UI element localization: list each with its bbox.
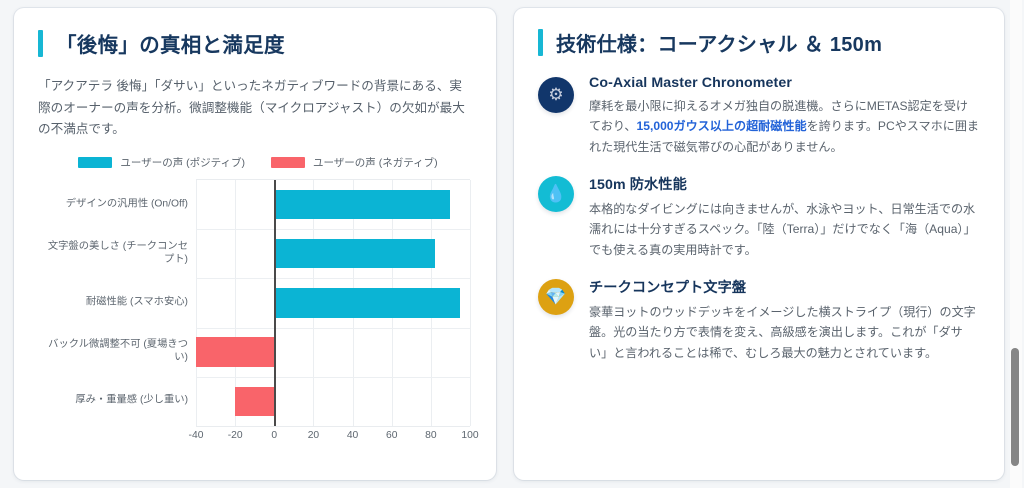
gem-icon: 💎 (538, 279, 574, 315)
spec-title: Co-Axial Master Chronometer (589, 75, 980, 91)
water-drop-icon: 💧 (538, 176, 574, 212)
chart-bar-row: デザインの汎用性 (On/Off) (196, 180, 470, 229)
satisfaction-bar-chart: ユーザーの声 (ポジティブ)ユーザーの声 (ネガティブ) デザインの汎用性 (O… (38, 155, 478, 445)
spec-title: 150m 防水性能 (589, 174, 980, 194)
spec-body: 150m 防水性能本格的なダイビングには向きませんが、水泳やヨット、日常生活での… (589, 174, 980, 260)
spec-item: 💧150m 防水性能本格的なダイビングには向きませんが、水泳やヨット、日常生活で… (538, 174, 980, 260)
spec-description: 豪華ヨットのウッドデッキをイメージした横ストライプ（現行）の文字盤。光の当たり方… (589, 302, 980, 363)
chart-x-tick-label: 60 (386, 430, 397, 441)
legend-item[interactable]: ユーザーの声 (ネガティブ) (271, 155, 438, 170)
legend-item[interactable]: ユーザーの声 (ポジティブ) (78, 155, 245, 170)
spec-item: ⚙Co-Axial Master Chronometer摩耗を最小限に抑えるオメ… (538, 75, 980, 157)
chart-x-tick-label: 100 (461, 430, 478, 441)
tech-spec-card: 技術仕様：コーアクシャル ＆ 150m ⚙Co-Axial Master Chr… (514, 8, 1004, 480)
page-scrollbar-track[interactable] (1010, 0, 1022, 488)
chart-x-tick-label: 40 (347, 430, 358, 441)
chart-x-tick-label: -40 (189, 430, 204, 441)
chart-row-separator (196, 278, 470, 279)
legend-label: ユーザーの声 (ネガティブ) (313, 155, 438, 170)
legend-label: ユーザーの声 (ポジティブ) (120, 155, 245, 170)
chart-row-separator (196, 229, 470, 230)
chart-plot-area: デザインの汎用性 (On/Off)文字盤の美しさ (チークコンセプト)耐磁性能 … (196, 179, 470, 427)
right-card-heading: 技術仕様：コーアクシャル ＆ 150m (538, 28, 980, 57)
spec-description: 本格的なダイビングには向きませんが、水泳やヨット、日常生活での水濡れには十分すぎ… (589, 199, 980, 260)
chart-x-tick-label: 80 (425, 430, 436, 441)
chart-zero-line (274, 180, 276, 426)
chart-bar[interactable] (274, 288, 460, 318)
chart-x-axis: -40-20020406080100 (196, 427, 470, 449)
legend-swatch-icon (78, 157, 112, 168)
spec-body: Co-Axial Master Chronometer摩耗を最小限に抑えるオメガ… (589, 75, 980, 157)
left-card-heading: 「後悔」の真相と満足度 (38, 28, 472, 58)
spec-description: 摩耗を最小限に抑えるオメガ独自の脱進機。さらにMETAS認定を受けており、15,… (589, 96, 980, 157)
chart-bar[interactable] (274, 239, 434, 269)
lead-paragraph: 「アクアテラ 後悔」「ダサい」といったネガティブワードの背景にある、実際のオーナ… (38, 76, 472, 141)
chart-x-tick-label: 0 (271, 430, 277, 441)
spec-body: チークコンセプト文字盤豪華ヨットのウッドデッキをイメージした横ストライプ（現行）… (589, 277, 980, 363)
chart-bar-row: 耐磁性能 (スマホ安心) (196, 278, 470, 327)
chart-bar[interactable] (196, 337, 274, 367)
spec-list: ⚙Co-Axial Master Chronometer摩耗を最小限に抑えるオメ… (538, 75, 980, 363)
chart-bar-row: 文字盤の美しさ (チークコンセプト) (196, 229, 470, 278)
chart-row-separator (196, 328, 470, 329)
chart-legend: ユーザーの声 (ポジティブ)ユーザーの声 (ネガティブ) (38, 155, 478, 171)
gear-icon: ⚙ (538, 77, 574, 113)
chart-y-axis-label: デザインの汎用性 (On/Off) (38, 198, 188, 211)
chart-row-separator (196, 377, 470, 378)
chart-bar[interactable] (235, 387, 274, 417)
accent-bar-icon (538, 29, 543, 56)
accent-bar-icon (38, 30, 43, 57)
chart-y-axis-label: 文字盤の美しさ (チークコンセプト) (38, 241, 188, 267)
page-scrollbar-thumb[interactable] (1011, 348, 1019, 466)
chart-y-axis-label: 厚み・重量感 (少し重い) (38, 395, 188, 408)
spec-highlight-text: 15,000ガウス以上の超耐磁性能 (637, 119, 807, 133)
spec-item: 💎チークコンセプト文字盤豪華ヨットのウッドデッキをイメージした横ストライプ（現行… (538, 277, 980, 363)
chart-bar-row: 厚み・重量感 (少し重い) (196, 377, 470, 426)
chart-x-tick-label: 20 (308, 430, 319, 441)
tech-spec-title: 技術仕様：コーアクシャル ＆ 150m (556, 28, 882, 57)
chart-y-axis-label: 耐磁性能 (スマホ安心) (38, 297, 188, 310)
page-root: 「後悔」の真相と満足度 「アクアテラ 後悔」「ダサい」といったネガティブワードの… (0, 0, 1024, 488)
chart-x-tick-label: -20 (228, 430, 243, 441)
chart-gridline (470, 180, 471, 426)
chart-bar[interactable] (274, 190, 450, 220)
page-title: 「後悔」の真相と満足度 (56, 28, 285, 58)
chart-y-axis-label: バックル微調整不可 (夏場きつい) (38, 339, 188, 365)
chart-bar-row: バックル微調整不可 (夏場きつい) (196, 328, 470, 377)
regret-analysis-card: 「後悔」の真相と満足度 「アクアテラ 後悔」「ダサい」といったネガティブワードの… (14, 8, 496, 480)
spec-title: チークコンセプト文字盤 (589, 277, 980, 297)
legend-swatch-icon (271, 157, 305, 168)
